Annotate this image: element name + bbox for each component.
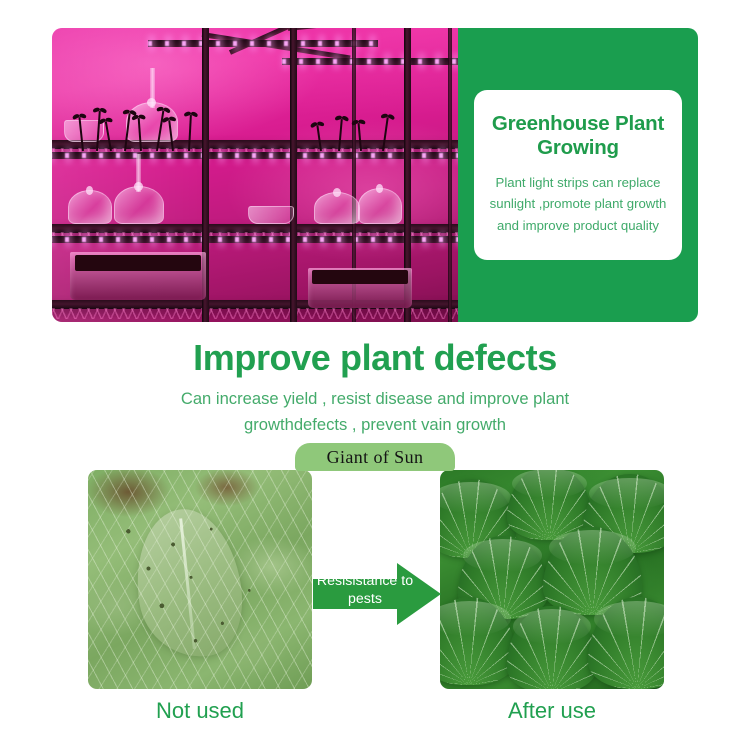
resistance-arrow	[313, 563, 441, 625]
subheadline-line-2: growthdefects , prevent vain growth	[0, 412, 750, 438]
after-caption: After use	[440, 698, 664, 724]
rack-post	[448, 28, 452, 322]
led-strip	[148, 40, 378, 47]
seedling-tray	[70, 252, 206, 300]
pest-damage-holes	[88, 470, 312, 689]
glass-cloche	[68, 190, 112, 224]
grow-room-photo	[52, 28, 458, 322]
led-strip	[52, 152, 458, 159]
leaf-shape	[507, 606, 597, 689]
subheadline-line-1: Can increase yield , resist disease and …	[0, 386, 750, 412]
glass-flask-neck	[150, 68, 155, 108]
page-headline: Improve plant defects	[0, 337, 750, 379]
leaf-shape	[440, 597, 516, 685]
led-strip	[52, 236, 458, 243]
pale-damaged-leaves-photo	[88, 470, 312, 689]
brand-badge: Giant of Sun	[295, 443, 455, 471]
seedling-tray	[308, 268, 412, 308]
leaf-shape	[588, 597, 664, 689]
card-body-text: Plant light strips can replace sunlight …	[487, 172, 669, 236]
page-subheadline: Can increase yield , resist disease and …	[0, 386, 750, 438]
lush-green-leaves-photo	[440, 470, 664, 689]
rack-post	[290, 28, 297, 322]
before-caption: Not used	[88, 698, 312, 724]
glass-cloche	[358, 188, 402, 224]
tray-soil	[312, 270, 408, 284]
glass-cloche	[314, 192, 360, 224]
arrow-shape	[313, 563, 441, 625]
hero-section: Greenhouse Plant Growing Plant light str…	[52, 28, 698, 322]
info-card: Greenhouse Plant Growing Plant light str…	[474, 90, 682, 260]
after-photo	[440, 470, 664, 689]
glass-beaker	[248, 206, 294, 224]
green-info-panel: Greenhouse Plant Growing Plant light str…	[458, 28, 698, 322]
glass-flask-neck	[136, 154, 141, 192]
product-infographic: Greenhouse Plant Growing Plant light str…	[0, 0, 750, 750]
card-title: Greenhouse Plant Growing	[487, 112, 669, 161]
tray-soil	[75, 255, 200, 271]
before-photo	[88, 470, 312, 689]
led-strip	[282, 58, 458, 65]
